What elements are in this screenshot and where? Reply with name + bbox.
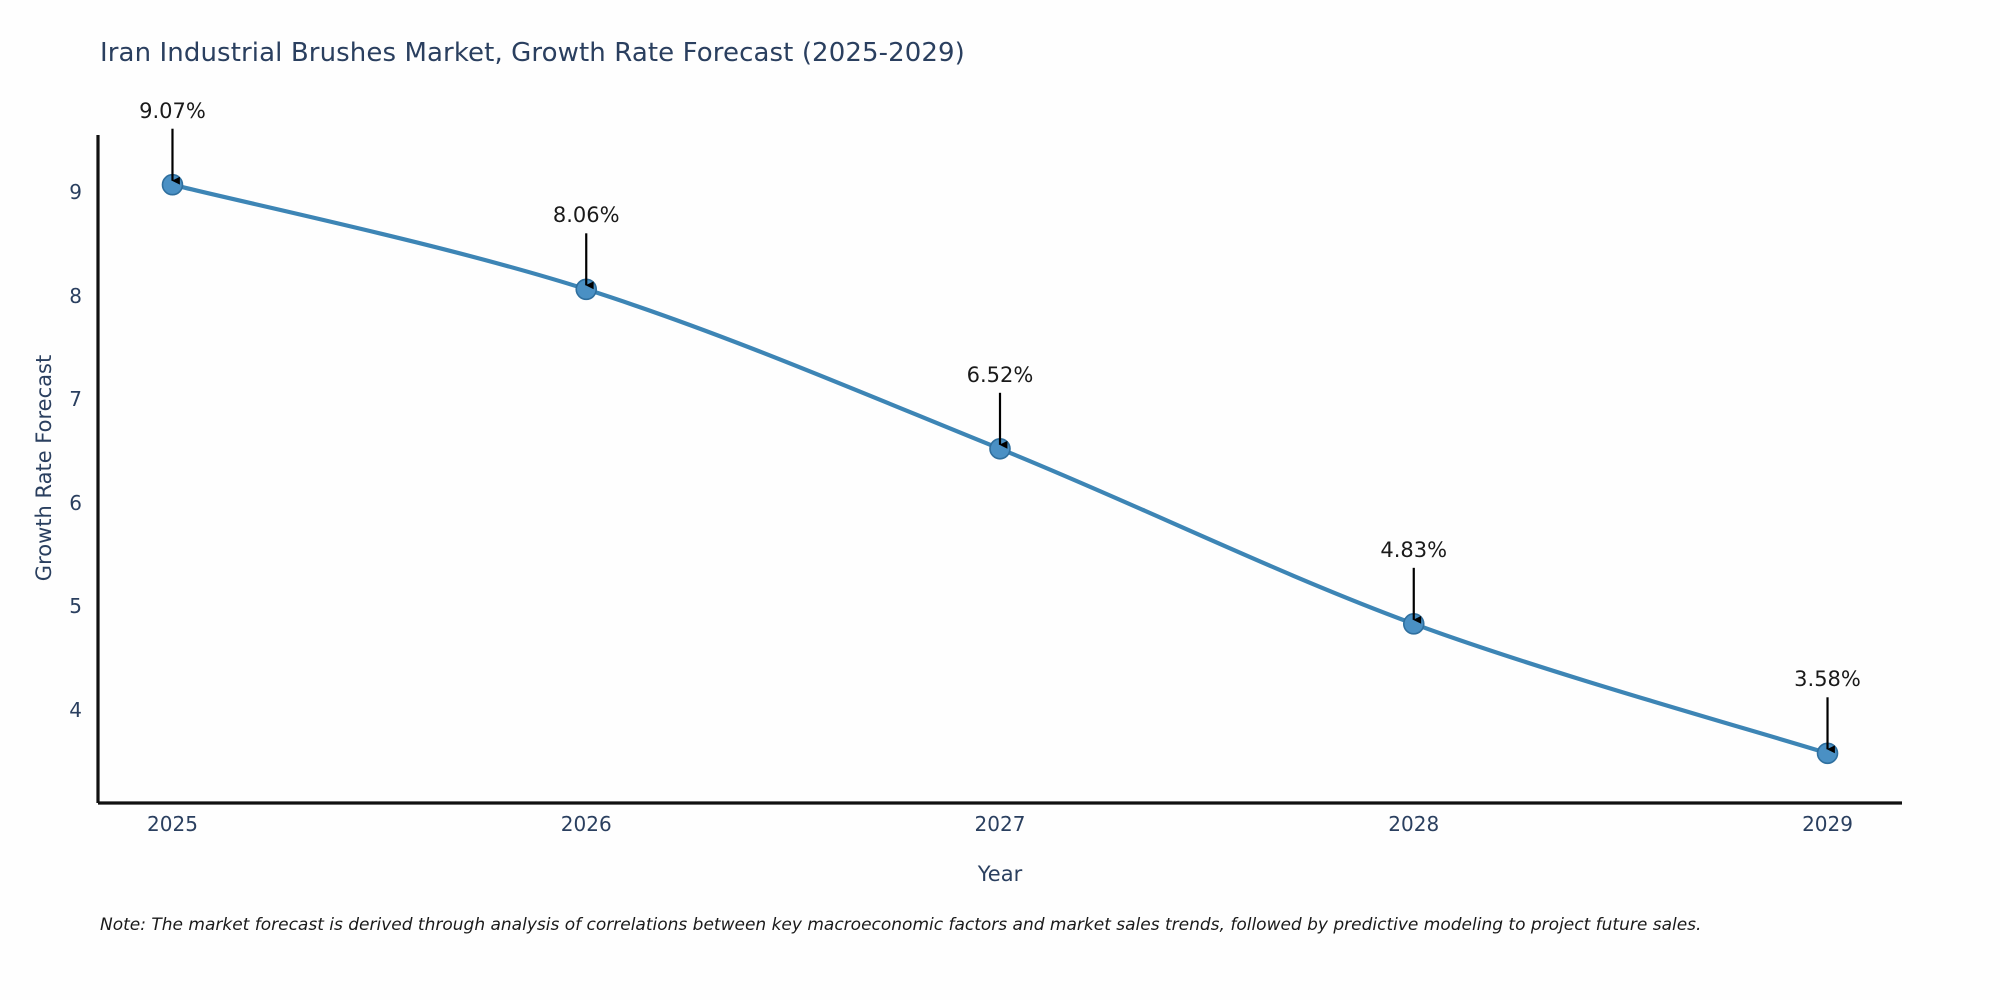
data-point-markers xyxy=(162,175,1837,764)
chart-figure: Iran Industrial Brushes Market, Growth R… xyxy=(0,0,2000,1000)
forecast-line xyxy=(172,185,1827,754)
annotation-arrows xyxy=(172,129,1827,750)
plot-area xyxy=(0,0,2000,1000)
chart-footnote: Note: The market forecast is derived thr… xyxy=(100,915,1960,935)
axis-spines xyxy=(98,135,1902,803)
